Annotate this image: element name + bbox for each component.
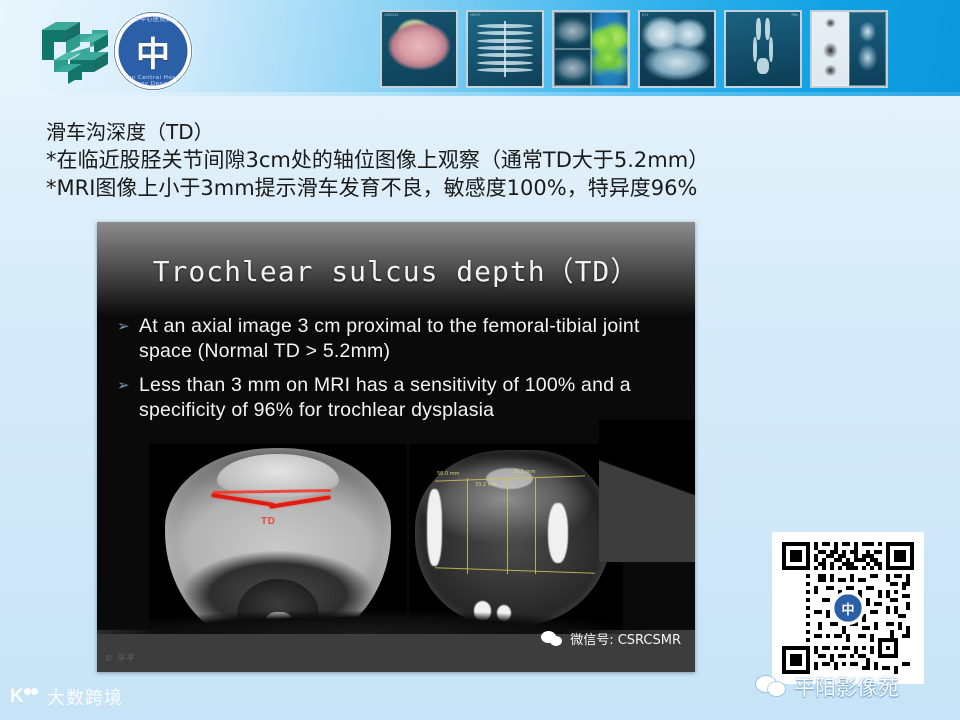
measurement-line-vertical-left <box>467 478 468 574</box>
pet-ct-thumbnail <box>810 10 888 88</box>
embedded-lecture-slide: Trochlear sulcus depth（TD） ➢ At an axial… <box>97 222 695 672</box>
watermark-text: 大数跨境 <box>47 684 123 710</box>
chevron-right-icon: ➢ <box>117 373 139 393</box>
source-watermark: K 大数跨境 <box>10 684 123 710</box>
thumbnail-corner-label: CARDIAC <box>384 13 399 17</box>
qr-caption-text: 平阳影像苑 <box>794 672 899 702</box>
brain-fmri-thumbnail <box>552 10 630 88</box>
chinese-annotation-block: 滑车沟深度（TD） *在临近股胫关节间隙3cm处的轴位图像上观察（通常TD大于5… <box>46 118 926 202</box>
slide-title: Trochlear sulcus depth（TD） <box>97 250 695 290</box>
wechat-qr-code[interactable]: 中 <box>772 532 924 684</box>
wechat-id-text: 微信号: CSRCSMR <box>570 629 681 648</box>
wechat-icon <box>541 631 563 647</box>
hospital-interlock-logo <box>36 16 114 86</box>
thumbnail-corner-label: MRA <box>792 13 798 17</box>
list-item: ➢ At an axial image 3 cm proximal to the… <box>117 314 677 364</box>
thumbnail-corner-label: CHEST <box>470 13 481 17</box>
bullet-text: At an axial image 3 cm proximal to the f… <box>139 314 644 364</box>
presentation-slide: 临汾市中心医院影像科 中 Linfen Central Hospital Rad… <box>0 0 960 720</box>
annotation-line-3: *MRI图像上小于3mm提示滑车发育不良，敏感度100%，特异度96% <box>46 174 926 202</box>
measurement-label: 25.1 mm <box>513 469 535 475</box>
slide-corner-wedge <box>599 420 695 562</box>
td-label: TD <box>261 516 275 527</box>
brain-dti-thumbnail: DTI <box>638 10 716 88</box>
seal-ring-bottom-text: Linfen Central Hospital Radiology Depart… <box>114 75 192 87</box>
slide-header-band: 临汾市中心医院影像科 中 Linfen Central Hospital Rad… <box>0 0 960 96</box>
rib-cage-ct-thumbnail: CHEST <box>466 10 544 88</box>
thumbnail-corner-label: DTI <box>642 13 648 17</box>
measurement-label: 56.0 mm <box>437 471 459 477</box>
list-item: ➢ Less than 3 mm on MRI has a sensitivit… <box>117 373 677 423</box>
wechat-icon <box>756 676 786 698</box>
annotation-line-2: *在临近股胫关节间隙3cm处的轴位图像上观察（通常TD大于5.2mm） <box>46 146 926 174</box>
measurement-line-vertical-right <box>535 478 536 574</box>
slide-bullet-list: ➢ At an axial image 3 cm proximal to the… <box>117 314 677 432</box>
watermark-logo-letter: K <box>10 687 24 707</box>
hospital-seal-logo: 临汾市中心医院影像科 中 Linfen Central Hospital Rad… <box>114 12 192 90</box>
chevron-right-icon: ➢ <box>117 314 139 334</box>
header-thumbnail-strip: CARDIAC CHEST <box>380 10 888 88</box>
annotation-line-1: 滑车沟深度（TD） <box>46 118 926 146</box>
vascular-angiography-thumbnail: MRA <box>724 10 802 88</box>
wechat-id-tag: 微信号: CSRCSMR <box>541 629 681 648</box>
qr-center-logo: 中 <box>833 593 863 623</box>
bullet-text: Less than 3 mm on MRI has a sensitivity … <box>139 373 644 423</box>
qr-caption: 平阳影像苑 <box>756 672 899 702</box>
cardiac-ct-thumbnail: CARDIAC <box>380 10 458 88</box>
measurement-line-vertical-mid <box>507 478 508 574</box>
copyright-mark: © 平平 <box>105 653 136 664</box>
watermark-logo-icon: K <box>10 686 40 708</box>
measurement-label: 33.2 mm <box>475 482 497 488</box>
